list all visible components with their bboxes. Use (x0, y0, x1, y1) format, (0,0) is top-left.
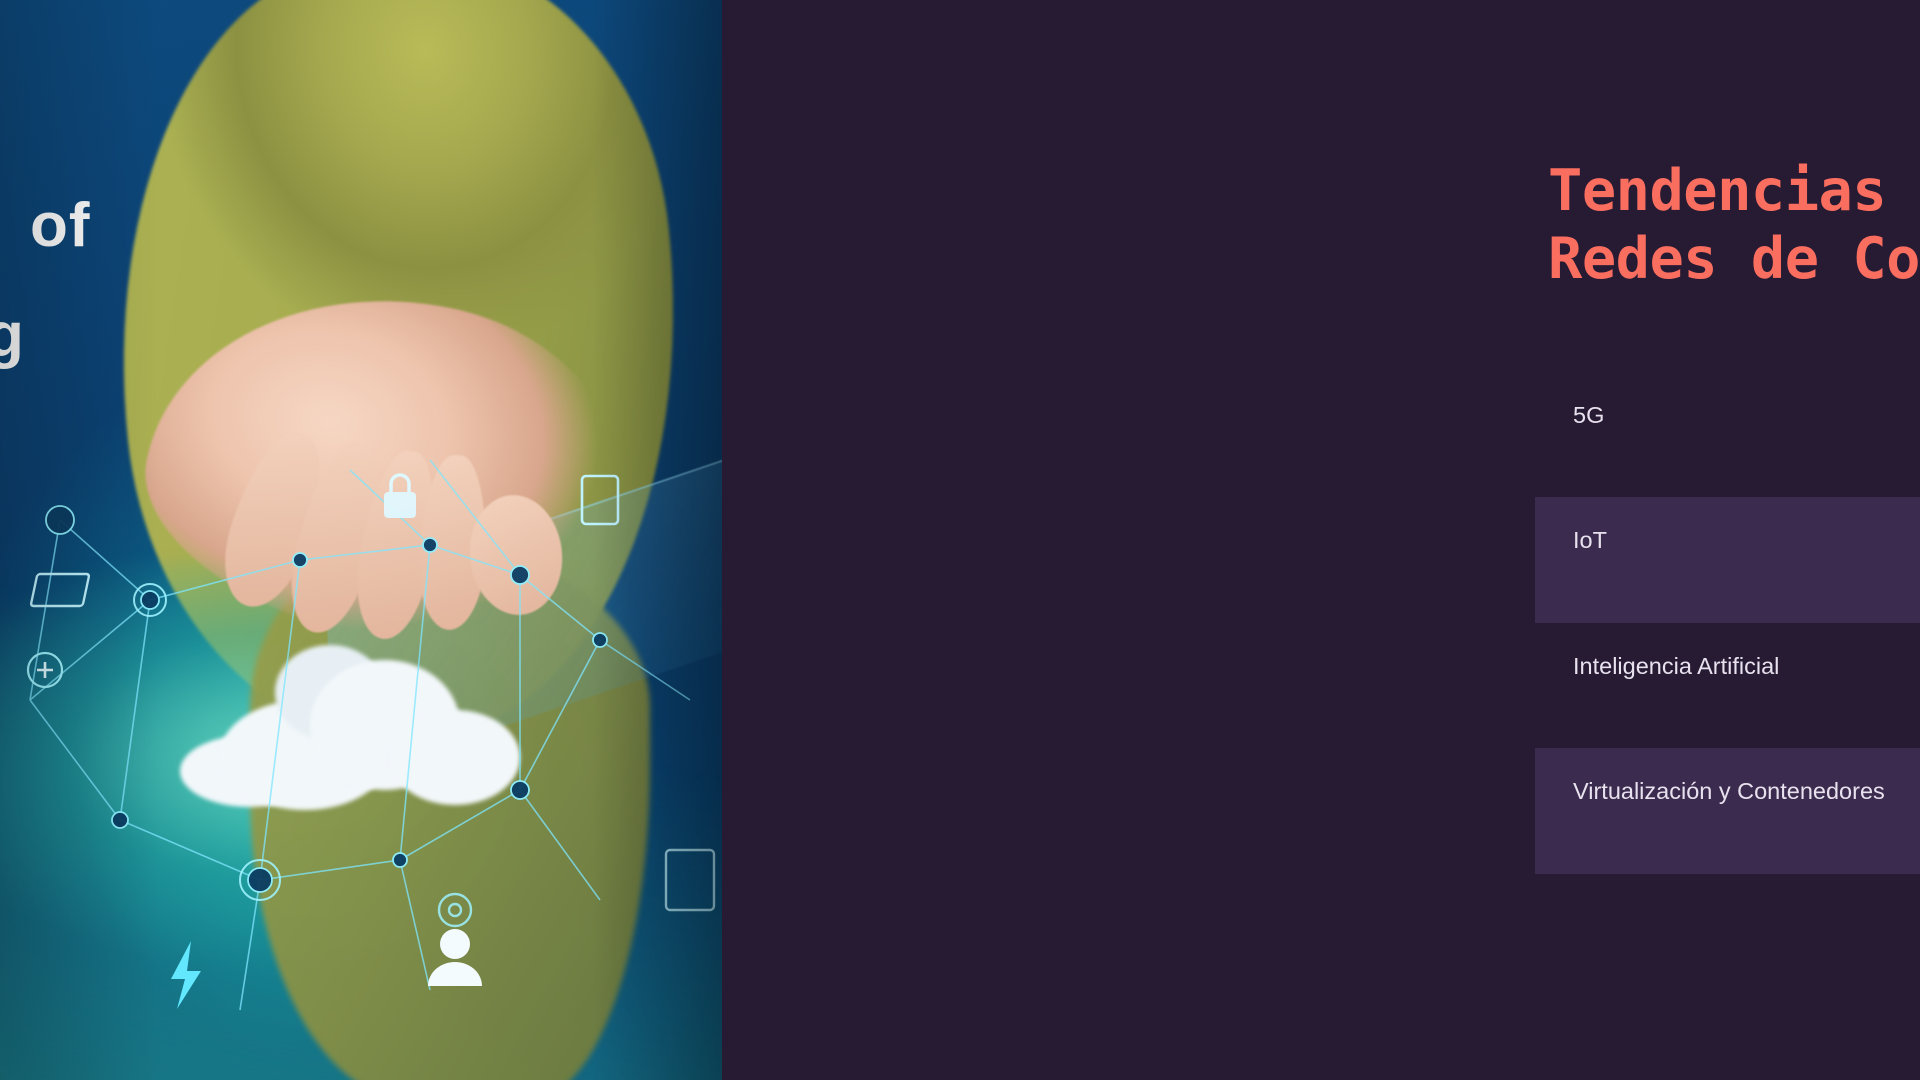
slide: of g Tendencias y Futuro de las Redes de… (0, 0, 1920, 1080)
table-row: 5G Redes móviles de alta velocidad y baj… (1535, 372, 1920, 497)
row-term: Inteligencia Artificial (1573, 649, 1920, 683)
content-panel: Tendencias y Futuro de las Redes de Comp… (722, 0, 1920, 1080)
slide-title: Tendencias y Futuro de las Redes de Comp… (1548, 158, 1920, 294)
row-term: IoT (1573, 523, 1920, 557)
table-row: Inteligencia Artificial Automatización y… (1535, 623, 1920, 748)
row-term: Virtualización y Contenedores (1573, 774, 1920, 808)
trends-table: 5G Redes móviles de alta velocidad y baj… (1535, 372, 1920, 874)
table-row: IoT Integración de dispositivos intelige… (1535, 497, 1920, 622)
table-row: Virtualización y Contenedores Implementa… (1535, 748, 1920, 873)
photo-panel: of g (0, 0, 722, 1080)
photo-vignette (0, 0, 722, 1080)
row-term: 5G (1573, 398, 1920, 432)
